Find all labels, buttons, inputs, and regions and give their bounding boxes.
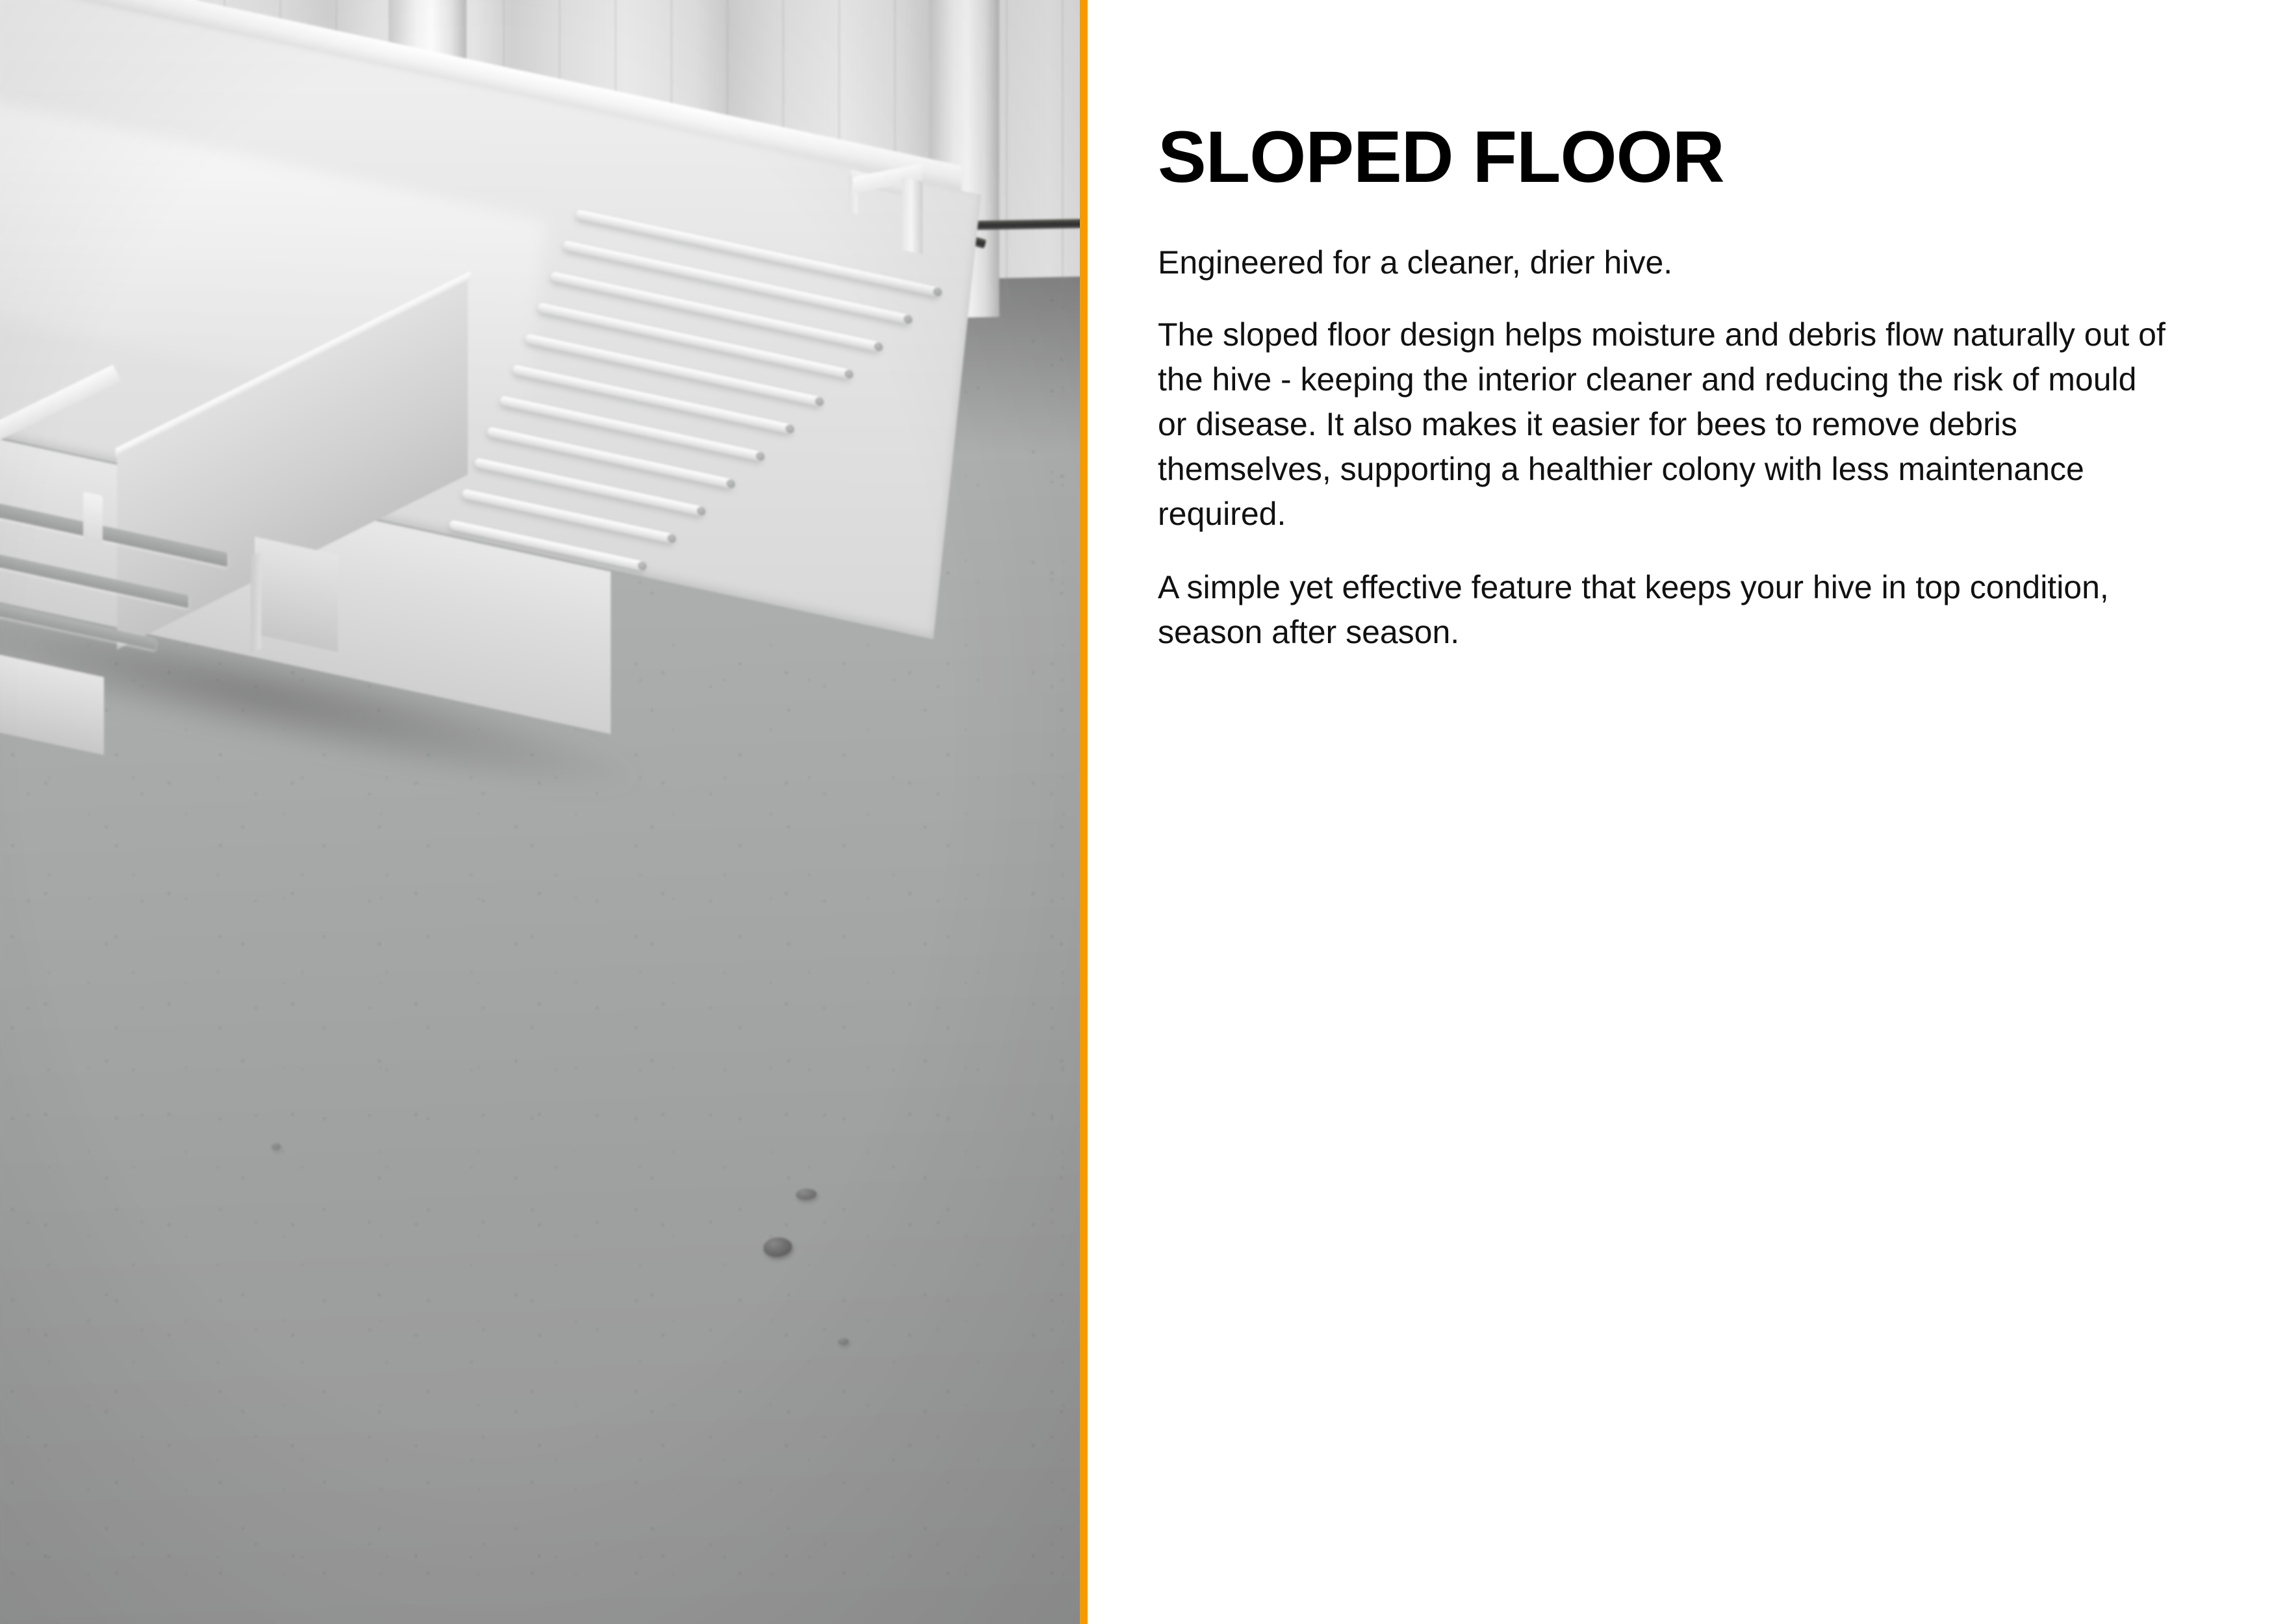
- tray-leg-right-face: [251, 551, 261, 653]
- tray-leg-right: [255, 537, 338, 652]
- sloped-floor-photo: [0, 0, 1080, 1624]
- drainage-rib: [537, 302, 852, 379]
- drainage-rib: [500, 396, 763, 462]
- drainage-rib: [487, 426, 734, 488]
- feature-text-pane: SLOPED FLOOR Engineered for a cleaner, d…: [1088, 0, 2274, 1624]
- sloped-floor-tray: [0, 0, 1080, 1624]
- corner-tab-post: [902, 177, 923, 255]
- drainage-rib: [525, 333, 823, 407]
- page-title: SLOPED FLOOR: [1158, 121, 2170, 194]
- feature-lede: Engineered for a cleaner, drier hive.: [1158, 242, 2170, 284]
- product-photo-pane: [0, 0, 1080, 1624]
- feature-slide: SLOPED FLOOR Engineered for a cleaner, d…: [0, 0, 2274, 1624]
- accent-divider: [1080, 0, 1088, 1624]
- entrance-clip: [83, 492, 103, 544]
- drainage-rib: [512, 364, 793, 435]
- feature-paragraph-2: A simple yet effective feature that keep…: [1158, 565, 2170, 655]
- feature-paragraph-1: The sloped floor design helps moisture a…: [1158, 312, 2170, 537]
